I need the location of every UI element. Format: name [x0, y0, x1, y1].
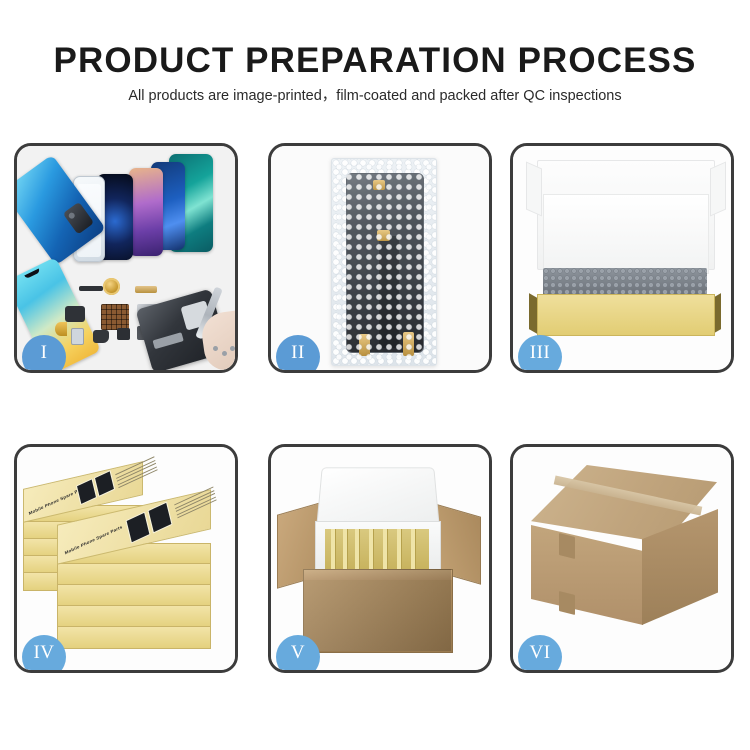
gold-tab-2 [377, 230, 390, 241]
white-foam-sheet [543, 194, 709, 274]
gold-tab-1 [373, 180, 385, 190]
box-layer [57, 584, 211, 607]
flex-cable-part-1 [79, 286, 103, 291]
step-badge-5: V [276, 635, 320, 673]
step-panel-5[interactable]: V [268, 444, 492, 673]
kraft-inner-box-front [537, 294, 715, 336]
step-badge-1: I [22, 335, 66, 373]
copper-mesh-part [101, 304, 129, 330]
step-panel-1[interactable]: I [14, 143, 238, 373]
step-badge-6: VI [518, 635, 562, 673]
step-badge-2: II [276, 335, 320, 373]
carton-shading [303, 569, 451, 651]
flex-cable-part-2 [65, 306, 85, 322]
box-layer [57, 626, 211, 649]
speaker-module-part [93, 330, 109, 343]
gold-tab-4 [403, 332, 414, 356]
box-layer [57, 563, 211, 586]
step-panel-6[interactable]: VI [510, 444, 734, 673]
vibration-motor-part [103, 278, 120, 295]
small-chip-part [117, 328, 130, 340]
grey-bubble-layer [543, 268, 707, 296]
bubble-wrap-bag [331, 158, 437, 366]
carton-seam-upper [559, 533, 575, 559]
step-panel-2[interactable]: II [268, 143, 492, 373]
step-panel-3[interactable]: III [510, 143, 734, 373]
gold-plate-part [55, 322, 67, 336]
infographic-root: PRODUCT PREPARATION PROCESS All products… [0, 0, 750, 750]
product-window [76, 478, 97, 505]
stacked-kraft-boxes: Mobile Phone Spare Parts Mobile Phone Sp… [23, 471, 235, 659]
carton-seam-lower [559, 591, 575, 615]
step-badge-3: III [518, 335, 562, 373]
product-window [147, 501, 172, 533]
lcd-assembly-part [346, 173, 424, 353]
lcd-flex-cable [379, 236, 399, 348]
screws-group [213, 346, 237, 358]
spec-label [174, 486, 217, 522]
box-brand-label: Mobile Phone Spare Parts [64, 524, 123, 555]
product-window [125, 512, 150, 544]
phone-screen-purple [129, 168, 163, 256]
gold-connector-part [135, 286, 157, 293]
process-step-grid: I II [14, 143, 737, 674]
camera-module-icon [63, 202, 94, 235]
gold-tab-3 [359, 334, 370, 356]
box-layer [57, 605, 211, 628]
yellow-boxes-inside [325, 529, 429, 569]
sim-tray-part [71, 328, 84, 345]
product-window [94, 470, 115, 497]
step-panel-4[interactable]: Mobile Phone Spare Parts Mobile Phone Sp… [14, 444, 238, 673]
step-badge-4: IV [22, 635, 66, 673]
page-subtitle: All products are image-printed，film-coat… [0, 86, 750, 106]
page-title: PRODUCT PREPARATION PROCESS [0, 41, 750, 81]
